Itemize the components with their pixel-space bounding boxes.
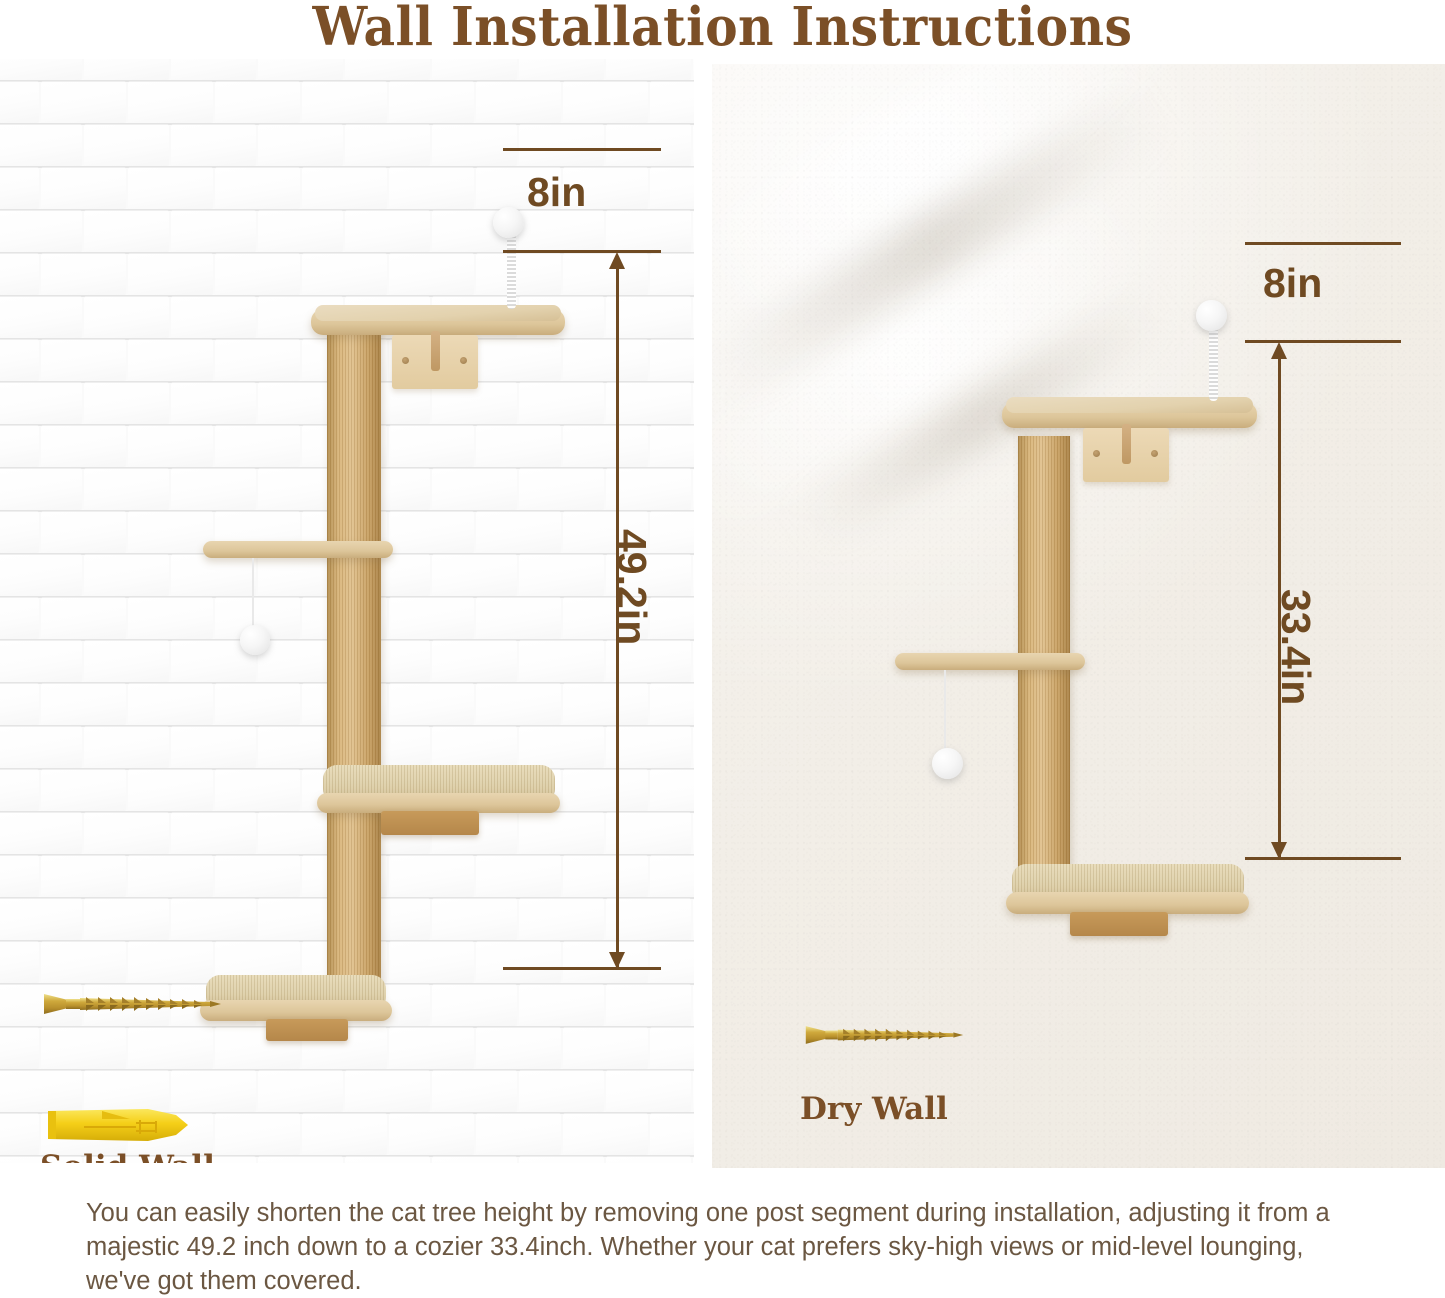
toy-ball-top [493, 207, 524, 238]
screw-hole-icon [1151, 450, 1158, 457]
tile [563, 684, 648, 725]
tile [0, 1114, 39, 1155]
toy-spring [507, 234, 516, 309]
tile [389, 82, 474, 123]
tile [519, 641, 604, 682]
tile [563, 426, 648, 467]
tile [0, 426, 39, 467]
tile [84, 469, 169, 510]
tile [0, 297, 82, 338]
tile [563, 1028, 648, 1069]
tile [171, 813, 256, 854]
tile [563, 254, 648, 295]
tile [693, 985, 694, 1026]
tile [258, 1157, 343, 1163]
tile [171, 125, 256, 166]
tile [606, 985, 691, 1026]
tile [0, 59, 82, 80]
tile [0, 598, 39, 639]
panel-dry-wall: 8in 33.4in Dry Wall [712, 64, 1445, 1168]
tile [476, 684, 561, 725]
tile [606, 1071, 691, 1112]
tile [650, 512, 695, 553]
tile [476, 254, 561, 295]
wall-type-label-solid: Solid Wall [40, 1149, 215, 1163]
tile [215, 1114, 300, 1155]
tile [171, 383, 256, 424]
tile [171, 899, 256, 940]
tile [215, 340, 300, 381]
tile [345, 125, 430, 166]
tile [519, 1071, 604, 1112]
tile [84, 899, 169, 940]
screw-icon [42, 984, 222, 1024]
tile [0, 125, 82, 166]
tile [432, 985, 517, 1026]
tile-row [0, 211, 694, 254]
dimension-label-8in: 8in [1263, 260, 1322, 307]
toy-pom-pom [932, 748, 963, 779]
tile [519, 125, 604, 166]
wall-mount-bracket-bottom [266, 1019, 348, 1041]
toy-pom-pom [240, 625, 270, 655]
tile [432, 1071, 517, 1112]
screw-icon [804, 1017, 964, 1053]
tile [693, 125, 694, 166]
tile [519, 727, 604, 768]
tile [606, 1157, 691, 1163]
tile [0, 469, 82, 510]
dimension-label-8in: 8in [527, 169, 586, 216]
bottom-platform [1006, 892, 1249, 914]
tile [650, 598, 695, 639]
tile [693, 555, 694, 596]
tile [171, 211, 256, 252]
tile [693, 813, 694, 854]
tile [650, 1028, 695, 1069]
tile [0, 942, 39, 983]
dimension-arrow-up-icon [1271, 342, 1287, 359]
tile [693, 899, 694, 940]
tile [693, 211, 694, 252]
tile [0, 899, 82, 940]
toy-ball-top [1196, 300, 1227, 331]
tile [41, 426, 126, 467]
tile [563, 770, 648, 811]
tile [302, 168, 387, 209]
dimension-extension-line-bottom [1245, 857, 1401, 860]
tile [432, 899, 517, 940]
tile [650, 684, 695, 725]
tile [128, 684, 213, 725]
tile [389, 426, 474, 467]
tile [128, 426, 213, 467]
tile-row [0, 82, 694, 125]
tile [0, 770, 39, 811]
bracket-tab [1122, 424, 1131, 464]
panel-solid-wall: 8in 49.2in [0, 59, 694, 1163]
tile [128, 82, 213, 123]
tile [41, 512, 126, 553]
tile [563, 942, 648, 983]
tile [432, 59, 517, 80]
tile [215, 856, 300, 897]
tile [128, 168, 213, 209]
tile [476, 942, 561, 983]
tile [519, 59, 604, 80]
dimension-extension-line-top [503, 148, 661, 151]
tile [693, 297, 694, 338]
tile [432, 555, 517, 596]
tile [128, 512, 213, 553]
wall-anchor-icon [44, 1101, 194, 1149]
wall-type-label-dry: Dry Wall [800, 1091, 948, 1127]
bracket-tab [431, 331, 440, 371]
tile [476, 512, 561, 553]
tile [476, 598, 561, 639]
tile [432, 469, 517, 510]
page-title: Wall Installation Instructions [58, 0, 1387, 58]
screw-hole-icon [1093, 450, 1100, 457]
tile [0, 211, 82, 252]
tile [476, 1114, 561, 1155]
tile [519, 383, 604, 424]
tile-row [0, 168, 694, 211]
tile [693, 1071, 694, 1112]
tile [0, 82, 39, 123]
tile [432, 727, 517, 768]
tile [128, 340, 213, 381]
tile [171, 297, 256, 338]
dimension-extension-line-8in-lower [1245, 340, 1401, 343]
tile [128, 770, 213, 811]
tile [563, 82, 648, 123]
tile [519, 899, 604, 940]
tile [476, 340, 561, 381]
tile [389, 942, 474, 983]
tile [215, 426, 300, 467]
tile [41, 254, 126, 295]
tile [84, 125, 169, 166]
caption-text: You can easily shorten the cat tree heig… [86, 1196, 1358, 1298]
tile [0, 813, 82, 854]
tile [84, 383, 169, 424]
tile [0, 1028, 39, 1069]
tile [0, 684, 39, 725]
tile [519, 211, 604, 252]
tile [0, 856, 39, 897]
tile [606, 211, 691, 252]
tile [258, 59, 343, 80]
tile [345, 1157, 430, 1163]
tile [128, 1028, 213, 1069]
tile [650, 1114, 695, 1155]
tile [302, 254, 387, 295]
tile [128, 856, 213, 897]
tile [215, 770, 300, 811]
tile [519, 985, 604, 1026]
tile [215, 168, 300, 209]
tile [389, 512, 474, 553]
tile [693, 383, 694, 424]
tile [389, 1028, 474, 1069]
tile [693, 727, 694, 768]
tile [302, 82, 387, 123]
tile [389, 168, 474, 209]
tile [650, 426, 695, 467]
tile [171, 555, 256, 596]
tile [432, 125, 517, 166]
tile-row [0, 254, 694, 297]
tile [0, 383, 82, 424]
tile [215, 254, 300, 295]
tile-row [0, 125, 694, 168]
tile [476, 1028, 561, 1069]
tile [84, 59, 169, 80]
tile [41, 1028, 126, 1069]
dimension-extension-line-8in-lower [503, 250, 661, 253]
tile [41, 598, 126, 639]
tile [650, 168, 695, 209]
bottom-platform [200, 1000, 392, 1021]
tile [0, 641, 82, 682]
tile [41, 684, 126, 725]
tile [432, 1157, 517, 1163]
toy-string [944, 670, 946, 751]
tile [693, 641, 694, 682]
mid-shelf [895, 653, 1085, 670]
tile [302, 1114, 387, 1155]
tile [650, 340, 695, 381]
tile [345, 59, 430, 80]
tile [345, 211, 430, 252]
tile [345, 1071, 430, 1112]
tile [128, 598, 213, 639]
tile [41, 770, 126, 811]
tile [0, 727, 82, 768]
tile [171, 727, 256, 768]
dimension-extension-line-top [1245, 242, 1401, 245]
dimension-arrow-up-icon [609, 252, 625, 269]
dimension-extension-line-bottom [503, 967, 661, 970]
tile [84, 641, 169, 682]
tile [650, 82, 695, 123]
tile [0, 254, 39, 295]
tile [41, 82, 126, 123]
tile [389, 684, 474, 725]
tile [258, 211, 343, 252]
tile [171, 469, 256, 510]
tile [650, 770, 695, 811]
sisal-post-upper [327, 327, 381, 1017]
tile [84, 813, 169, 854]
tile [606, 125, 691, 166]
tile [432, 383, 517, 424]
tile [84, 555, 169, 596]
toy-spring [1209, 327, 1218, 401]
tile [650, 942, 695, 983]
tile [0, 512, 39, 553]
tile [389, 1114, 474, 1155]
tile [41, 856, 126, 897]
tile [563, 856, 648, 897]
mid-shelf [203, 541, 393, 558]
tile [215, 82, 300, 123]
tile [693, 59, 694, 80]
tile [41, 340, 126, 381]
tile [563, 340, 648, 381]
tile [128, 942, 213, 983]
tile [606, 59, 691, 80]
tile [519, 813, 604, 854]
screw-hole-icon [460, 357, 467, 364]
tile [432, 641, 517, 682]
tile [650, 254, 695, 295]
tile [389, 856, 474, 897]
middle-platform [317, 793, 560, 813]
tile [84, 211, 169, 252]
tile [389, 598, 474, 639]
tile [84, 297, 169, 338]
tile [0, 340, 39, 381]
dimension-label-33in: 33.4in [1272, 589, 1319, 705]
tile [519, 1157, 604, 1163]
tile [0, 168, 39, 209]
tile [389, 254, 474, 295]
tile [258, 1071, 343, 1112]
tile [258, 125, 343, 166]
tile [84, 727, 169, 768]
tile [0, 555, 82, 596]
tile [476, 856, 561, 897]
tile [41, 942, 126, 983]
tile [519, 555, 604, 596]
tile [41, 168, 126, 209]
dimension-label-49in: 49.2in [608, 529, 655, 645]
wall-mount-bracket-bottom [1070, 912, 1168, 936]
wall-texture [712, 64, 1445, 1168]
tile [215, 684, 300, 725]
screw-hole-icon [402, 357, 409, 364]
tile [476, 426, 561, 467]
tile [128, 254, 213, 295]
tile [693, 469, 694, 510]
tile [693, 1157, 694, 1163]
tile [563, 1114, 648, 1155]
tile [519, 469, 604, 510]
tile [476, 82, 561, 123]
tile-row [0, 59, 694, 82]
top-platform-surface [315, 305, 561, 321]
tile [171, 59, 256, 80]
wall-mount-bracket-middle [381, 811, 479, 835]
tile [650, 856, 695, 897]
toy-string [252, 558, 254, 628]
